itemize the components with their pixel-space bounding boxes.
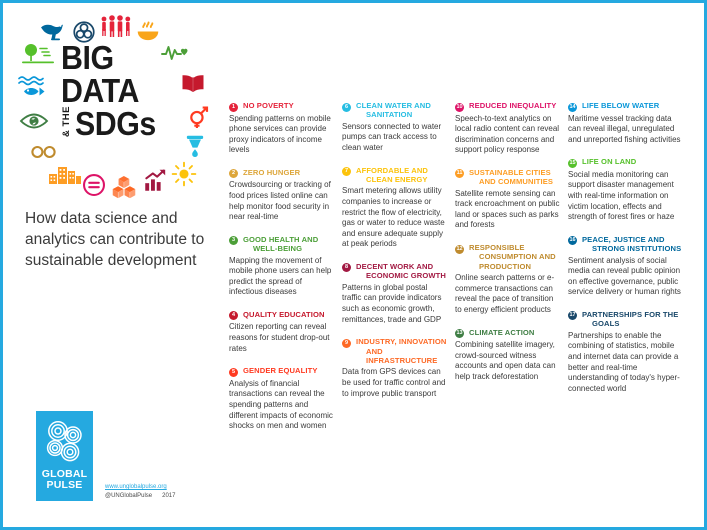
global-pulse-line2: PULSE bbox=[42, 480, 88, 491]
goal-column: 10REDUCED INEQUALITYSpeech-to-text analy… bbox=[455, 101, 568, 444]
goal-title: CLEAN WATER AND SANITATION bbox=[356, 101, 447, 120]
goal-description: Spending patterns on mobile phone servic… bbox=[229, 114, 334, 156]
goal-title: AFFORDABLE AND CLEAN ENERGY bbox=[356, 166, 447, 185]
goal-item-1[interactable]: 1NO POVERTYSpending patterns on mobile p… bbox=[229, 101, 334, 156]
goal-header: 13CLIMATE ACTION bbox=[455, 328, 560, 339]
goal-title: RESPONSIBLE CONSUMPTION AND PRODUCTION bbox=[469, 243, 560, 271]
goal-header: 14LIFE BELOW WATER bbox=[568, 101, 684, 112]
goal-header: 3GOOD HEALTH AND WELL-BEING bbox=[229, 235, 334, 254]
wordmark-and-the: & THE bbox=[61, 106, 72, 137]
goal-title: INDUSTRY, INNOVATION AND INFRASTRUCTURE bbox=[356, 337, 447, 365]
goal-header: 6CLEAN WATER AND SANITATION bbox=[342, 101, 447, 120]
infographic-poster: BIG DATA & THE SDGs How data science and… bbox=[0, 0, 707, 530]
global-pulse-logo: GLOBAL PULSE bbox=[36, 411, 93, 501]
sun-energy-icon bbox=[171, 161, 197, 187]
goal-title: ZERO HUNGER bbox=[243, 168, 300, 177]
goal-header: 8DECENT WORK AND ECONOMIC GROWTH bbox=[342, 262, 447, 281]
goal-title: SUSTAINABLE CITIES AND COMMUNITIES bbox=[469, 168, 560, 187]
goal-column: 6CLEAN WATER AND SANITATIONSensors conne… bbox=[342, 101, 455, 444]
goal-item-13[interactable]: 13CLIMATE ACTIONCombining satellite imag… bbox=[455, 328, 560, 383]
fish-water-icon bbox=[16, 73, 50, 99]
goal-item-2[interactable]: 2ZERO HUNGERCrowdsourcing or tracking of… bbox=[229, 168, 334, 223]
infinity-icon bbox=[29, 139, 59, 165]
goal-item-12[interactable]: 12RESPONSIBLE CONSUMPTION AND PRODUCTION… bbox=[455, 243, 560, 316]
goal-number-badge: 17 bbox=[568, 311, 577, 320]
goal-item-14[interactable]: 14LIFE BELOW WATERMaritime vessel tracki… bbox=[568, 101, 684, 145]
goal-number-badge: 8 bbox=[342, 263, 351, 272]
wordmark-big: BIG bbox=[61, 41, 164, 74]
goal-item-10[interactable]: 10REDUCED INEQUALITYSpeech-to-text analy… bbox=[455, 101, 560, 156]
wordmark-sdgs: SDGs bbox=[75, 107, 156, 140]
goal-column: 1NO POVERTYSpending patterns on mobile p… bbox=[229, 101, 342, 444]
left-panel: BIG DATA & THE SDGs How data science and… bbox=[3, 3, 225, 527]
goal-number-badge: 4 bbox=[229, 311, 238, 320]
growth-chart-icon bbox=[142, 168, 168, 194]
goal-item-15[interactable]: 15LIFE ON LANDSocial media monitoring ca… bbox=[568, 157, 684, 222]
goal-number-badge: 15 bbox=[568, 159, 577, 168]
copyright-year: 2017 bbox=[162, 492, 175, 501]
goal-item-9[interactable]: 9INDUSTRY, INNOVATION AND INFRASTRUCTURE… bbox=[342, 337, 447, 399]
goal-description: Smart metering allows utility companies … bbox=[342, 186, 447, 250]
goal-description: Speech-to-text analytics on local radio … bbox=[455, 114, 560, 156]
goal-item-3[interactable]: 3GOOD HEALTH AND WELL-BEINGMapping the m… bbox=[229, 235, 334, 298]
tagline: How data science and analytics can contr… bbox=[25, 208, 215, 271]
goal-header: 17PARTNERSHIPS FOR THE GOALS bbox=[568, 310, 684, 329]
goal-description: Citizen reporting can reveal reasons for… bbox=[229, 322, 334, 354]
goal-item-7[interactable]: 7AFFORDABLE AND CLEAN ENERGYSmart meteri… bbox=[342, 166, 447, 250]
goal-header: 5GENDER EQUALITY bbox=[229, 366, 334, 377]
goal-description: Combining satellite imagery, crowd-sourc… bbox=[455, 340, 560, 382]
big-data-sdgs-logo: BIG DATA & THE SDGs bbox=[15, 11, 215, 186]
goal-title: LIFE ON LAND bbox=[582, 157, 636, 166]
goal-number-badge: 1 bbox=[229, 103, 238, 112]
footer-meta: www.unglobalpulse.org @UNGlobalPulse 201… bbox=[105, 483, 175, 501]
goal-title: LIFE BELOW WATER bbox=[582, 101, 659, 110]
goal-header: 9INDUSTRY, INNOVATION AND INFRASTRUCTURE bbox=[342, 337, 447, 365]
wordmark: BIG DATA & THE SDGs bbox=[61, 41, 173, 143]
goal-title: REDUCED INEQUALITY bbox=[469, 101, 556, 110]
goal-title: DECENT WORK AND ECONOMIC GROWTH bbox=[356, 262, 447, 281]
goal-description: Sentiment analysis of social media can r… bbox=[568, 256, 684, 298]
goal-column: 14LIFE BELOW WATERMaritime vessel tracki… bbox=[568, 101, 686, 444]
social-handle: @UNGlobalPulse bbox=[105, 492, 152, 501]
goal-title: NO POVERTY bbox=[243, 101, 294, 110]
global-pulse-text: GLOBAL PULSE bbox=[42, 469, 88, 491]
goal-description: Partnerships to enable the combining of … bbox=[568, 331, 684, 395]
goal-number-badge: 13 bbox=[455, 329, 464, 338]
website-link[interactable]: www.unglobalpulse.org bbox=[105, 483, 175, 492]
goal-description: Patterns in global postal traffic can pr… bbox=[342, 283, 447, 325]
goal-description: Online search patterns or e-commerce tra… bbox=[455, 273, 560, 315]
goal-description: Maritime vessel tracking data can reveal… bbox=[568, 114, 684, 146]
goal-title: PARTNERSHIPS FOR THE GOALS bbox=[582, 310, 684, 329]
goal-number-badge: 12 bbox=[455, 245, 464, 254]
goal-description: Social media monitoring can support disa… bbox=[568, 170, 684, 223]
goal-header: 4QUALITY EDUCATION bbox=[229, 310, 334, 321]
open-book-icon bbox=[178, 69, 208, 99]
goal-title: QUALITY EDUCATION bbox=[243, 310, 325, 319]
goal-item-17[interactable]: 17PARTNERSHIPS FOR THE GOALSPartnerships… bbox=[568, 310, 684, 394]
goal-item-5[interactable]: 5GENDER EQUALITYAnalysis of financial tr… bbox=[229, 366, 334, 431]
goal-header: 11SUSTAINABLE CITIES AND COMMUNITIES bbox=[455, 168, 560, 187]
goal-description: Analysis of financial transactions can r… bbox=[229, 379, 334, 432]
goal-description: Satellite remote sensing can track encro… bbox=[455, 189, 560, 231]
gender-symbols-icon bbox=[185, 104, 211, 130]
goal-description: Data from GPS devices can be used for tr… bbox=[342, 367, 447, 399]
goal-title: GOOD HEALTH AND WELL-BEING bbox=[243, 235, 334, 254]
goal-item-11[interactable]: 11SUSTAINABLE CITIES AND COMMUNITIESSate… bbox=[455, 168, 560, 231]
goal-number-badge: 11 bbox=[455, 169, 464, 178]
family-people-icon bbox=[99, 13, 133, 39]
goal-description: Crowdsourcing or tracking of food prices… bbox=[229, 180, 334, 222]
goal-item-8[interactable]: 8DECENT WORK AND ECONOMIC GROWTHPatterns… bbox=[342, 262, 447, 325]
goal-number-badge: 5 bbox=[229, 368, 238, 377]
goal-number-badge: 7 bbox=[342, 167, 351, 176]
water-drop-tap-icon bbox=[182, 133, 208, 159]
goal-header: 1NO POVERTY bbox=[229, 101, 334, 112]
boxes-cubes-icon bbox=[111, 174, 137, 200]
goal-number-badge: 3 bbox=[229, 236, 238, 245]
goal-item-16[interactable]: 16PEACE, JUSTICE AND STRONG INSTITUTIONS… bbox=[568, 235, 684, 298]
goal-title: CLIMATE ACTION bbox=[469, 328, 535, 337]
goal-number-badge: 16 bbox=[568, 236, 577, 245]
goal-number-badge: 6 bbox=[342, 103, 351, 112]
goal-header: 7AFFORDABLE AND CLEAN ENERGY bbox=[342, 166, 447, 185]
goals-grid: 1NO POVERTYSpending patterns on mobile p… bbox=[229, 101, 703, 444]
goal-number-badge: 2 bbox=[229, 169, 238, 178]
global-pulse-mark bbox=[44, 418, 86, 466]
goal-header: 16PEACE, JUSTICE AND STRONG INSTITUTIONS bbox=[568, 235, 684, 254]
goal-number-badge: 10 bbox=[455, 103, 464, 112]
goal-number-badge: 9 bbox=[342, 339, 351, 348]
goal-number-badge: 14 bbox=[568, 103, 577, 112]
goal-header: 15LIFE ON LAND bbox=[568, 157, 684, 168]
goal-header: 10REDUCED INEQUALITY bbox=[455, 101, 560, 112]
goal-header: 2ZERO HUNGER bbox=[229, 168, 334, 179]
goal-header: 12RESPONSIBLE CONSUMPTION AND PRODUCTION bbox=[455, 243, 560, 271]
eye-globe-icon bbox=[18, 108, 50, 134]
goal-description: Mapping the movement of mobile phone use… bbox=[229, 256, 334, 298]
goal-item-4[interactable]: 4QUALITY EDUCATIONCitizen reporting can … bbox=[229, 310, 334, 354]
goal-item-6[interactable]: 6CLEAN WATER AND SANITATIONSensors conne… bbox=[342, 101, 447, 154]
goal-title: PEACE, JUSTICE AND STRONG INSTITUTIONS bbox=[582, 235, 684, 254]
wordmark-data: DATA bbox=[61, 74, 164, 107]
equals-circle-icon bbox=[81, 172, 107, 198]
goal-title: GENDER EQUALITY bbox=[243, 366, 318, 375]
goal-description: Sensors connected to water pumps can tra… bbox=[342, 122, 447, 154]
